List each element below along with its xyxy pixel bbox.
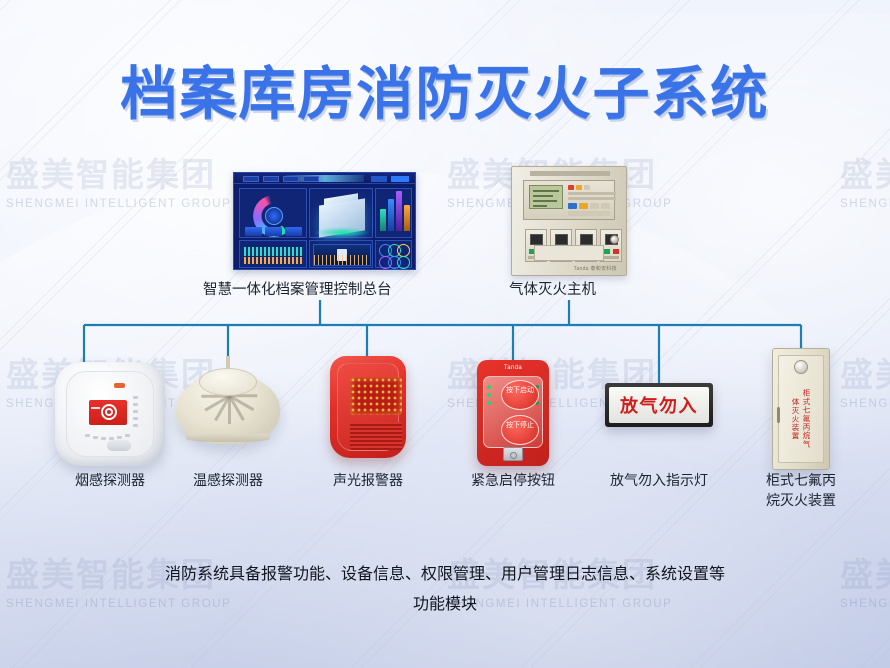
product-smoke-detector (55, 362, 165, 466)
product-caption-sound-light-alarm: 声光报警器 (298, 470, 438, 490)
emergency-button-cover[interactable]: 按下启动 按下停止 (483, 376, 543, 448)
dashboard-tab[interactable] (243, 176, 259, 183)
discharge-indicator-frame: 放气勿入 (605, 383, 713, 427)
panel-model (309, 188, 373, 238)
vent-slot (125, 434, 130, 437)
smoke-detector-test-button[interactable] (107, 440, 131, 451)
lcd-line (533, 200, 557, 202)
console-image (233, 172, 416, 270)
status-row (568, 197, 616, 200)
gas-host-warning-label (534, 245, 604, 261)
gas-host-brand: Tanda 泰和安科技 (574, 265, 617, 272)
zone-window (555, 234, 568, 245)
smoke-detector-label (89, 400, 127, 425)
stat-bar (388, 199, 394, 231)
vent-slot (133, 424, 138, 427)
zone-start-button[interactable] (604, 249, 610, 254)
vent-slot (133, 403, 138, 406)
smoke-detector-led (114, 383, 125, 388)
emergency-stop-button[interactable]: 按下停止 (501, 415, 539, 445)
keypad-key[interactable] (579, 203, 588, 209)
gas-host-title-plate (530, 171, 610, 176)
cabinet-handle[interactable] (777, 407, 780, 423)
product-caption-discharge-indicator: 放气勿入指示灯 (589, 470, 729, 490)
zone-label (603, 256, 619, 259)
emergency-key-lock[interactable] (503, 447, 523, 461)
discharge-indicator-text: 放气勿入 (609, 387, 709, 423)
dashboard-screen (233, 172, 416, 270)
product-cabinet-extinguisher: 柜式七氟丙烷气体灭火装置 (772, 348, 830, 470)
page-title: 档案库房消防灭火子系统 (0, 48, 890, 130)
vent-slot (117, 436, 122, 439)
dashboard-tab[interactable] (263, 176, 279, 183)
dashboard-header (234, 173, 415, 184)
indicator-dot (487, 393, 491, 397)
gas-host-caption: 气体灭火主机 (509, 278, 596, 299)
lcd-line (533, 205, 547, 207)
cabinet-pressure-gauge (794, 360, 808, 374)
product-discharge-indicator: 放气勿入 (605, 383, 713, 427)
caption-line-2: 烷灭火装置 (766, 492, 836, 508)
dashboard-user-chip (391, 176, 409, 182)
footer-line-2: 功能模块 (0, 590, 890, 620)
gas-host-body: Tanda 泰和安科技 (511, 166, 627, 276)
lcd-display (529, 185, 563, 209)
product-caption-heat-detector: 温感探测器 (158, 470, 298, 490)
model-base-glow (314, 227, 370, 238)
status-row (568, 192, 616, 195)
keypad-key[interactable] (601, 203, 610, 209)
kpi-chip (245, 227, 262, 236)
label-ring-inner (105, 408, 113, 416)
cabinet-body: 柜式七氟丙烷气体灭火装置 (772, 348, 830, 470)
emergency-start-button[interactable]: 按下启动 (501, 380, 539, 410)
caption-line-1: 柜式七氟丙 (766, 472, 836, 488)
vent-slot (133, 417, 138, 420)
smoke-detector-face (66, 371, 154, 457)
dashboard-status-chip (371, 176, 387, 182)
vent-slot (85, 434, 90, 437)
poster-root: 盛美智能集团 SHENGMEI INTELLIGENT GROUP 盛美智能集团… (0, 0, 890, 668)
dashboard-tab[interactable] (283, 176, 299, 183)
panel-environment (239, 188, 307, 238)
lcd-line (533, 195, 553, 197)
gas-host-knob[interactable] (610, 235, 619, 244)
footer-description: 消防系统具备报警功能、设备信息、权限管理、用户管理日志信息、系统设置等 功能模块 (0, 560, 890, 620)
zone-window (580, 234, 593, 245)
footer-line-1: 消防系统具备报警功能、设备信息、权限管理、用户管理日志信息、系统设置等 (0, 560, 890, 590)
stat-bar (404, 205, 410, 231)
keypad-key[interactable] (568, 203, 577, 209)
dashboard-tab[interactable] (303, 176, 319, 183)
trend-series-b (244, 257, 304, 264)
console-caption: 智慧一体化档案管理控制总台 (203, 278, 392, 299)
stat-bar (380, 209, 386, 231)
gauge-core (265, 207, 283, 225)
indicator-dot (487, 385, 491, 389)
lcd-line (533, 190, 559, 192)
heat-detector-base-band (186, 434, 270, 442)
vent-slot (101, 437, 106, 440)
video-feed[interactable] (313, 244, 371, 266)
indicator-dot (487, 401, 491, 405)
panel-video (309, 240, 373, 268)
status-lamp-fire (568, 185, 574, 190)
product-sound-light-alarm (330, 356, 406, 458)
emergency-button-housing: Tanda 按下启动 按下停止 (477, 360, 549, 466)
trend-series-a (244, 247, 304, 256)
kpi-chip (285, 227, 302, 236)
product-emergency-button: Tanda 按下启动 按下停止 (477, 360, 549, 466)
gas-host-image: Tanda 泰和安科技 (511, 166, 627, 276)
vent-slot (133, 396, 138, 399)
product-caption-cabinet-extinguisher: 柜式七氟丙 烷灭火装置 (743, 470, 859, 511)
alarm-face (337, 363, 399, 451)
heat-detector-cap (199, 368, 257, 396)
panel-statistics (375, 188, 412, 238)
keypad-row[interactable] (568, 211, 610, 216)
panel-trend (239, 240, 307, 268)
heat-detector-body (176, 368, 280, 452)
panel-navigation (375, 240, 412, 268)
smoke-detector-housing (55, 362, 165, 466)
kpi-chip (265, 227, 282, 236)
status-lamp-power (584, 185, 590, 190)
vent-slot (133, 410, 138, 413)
keypad-key[interactable] (590, 203, 599, 209)
gas-host-panel (523, 180, 615, 220)
vent-slot (93, 436, 98, 439)
cabinet-label-text: 柜式七氟丙烷气体灭火装置 (790, 387, 812, 451)
key-lock-icon (510, 452, 517, 459)
status-lamp-fault (576, 185, 582, 190)
zone-window (530, 234, 543, 245)
label-text-bar (91, 407, 100, 409)
zone-stop-button[interactable] (613, 249, 619, 254)
product-heat-detector (176, 358, 280, 458)
emergency-button-brand: Tanda (477, 365, 549, 371)
nav-icon-settings[interactable] (397, 256, 410, 269)
alarm-led-array (350, 377, 402, 415)
alarm-speaker-grille (350, 422, 402, 450)
stat-bar (396, 191, 402, 231)
alarm-housing (330, 356, 406, 458)
video-city-lights (314, 255, 370, 265)
product-caption-emergency-button: 紧急启停按钮 (443, 470, 583, 490)
